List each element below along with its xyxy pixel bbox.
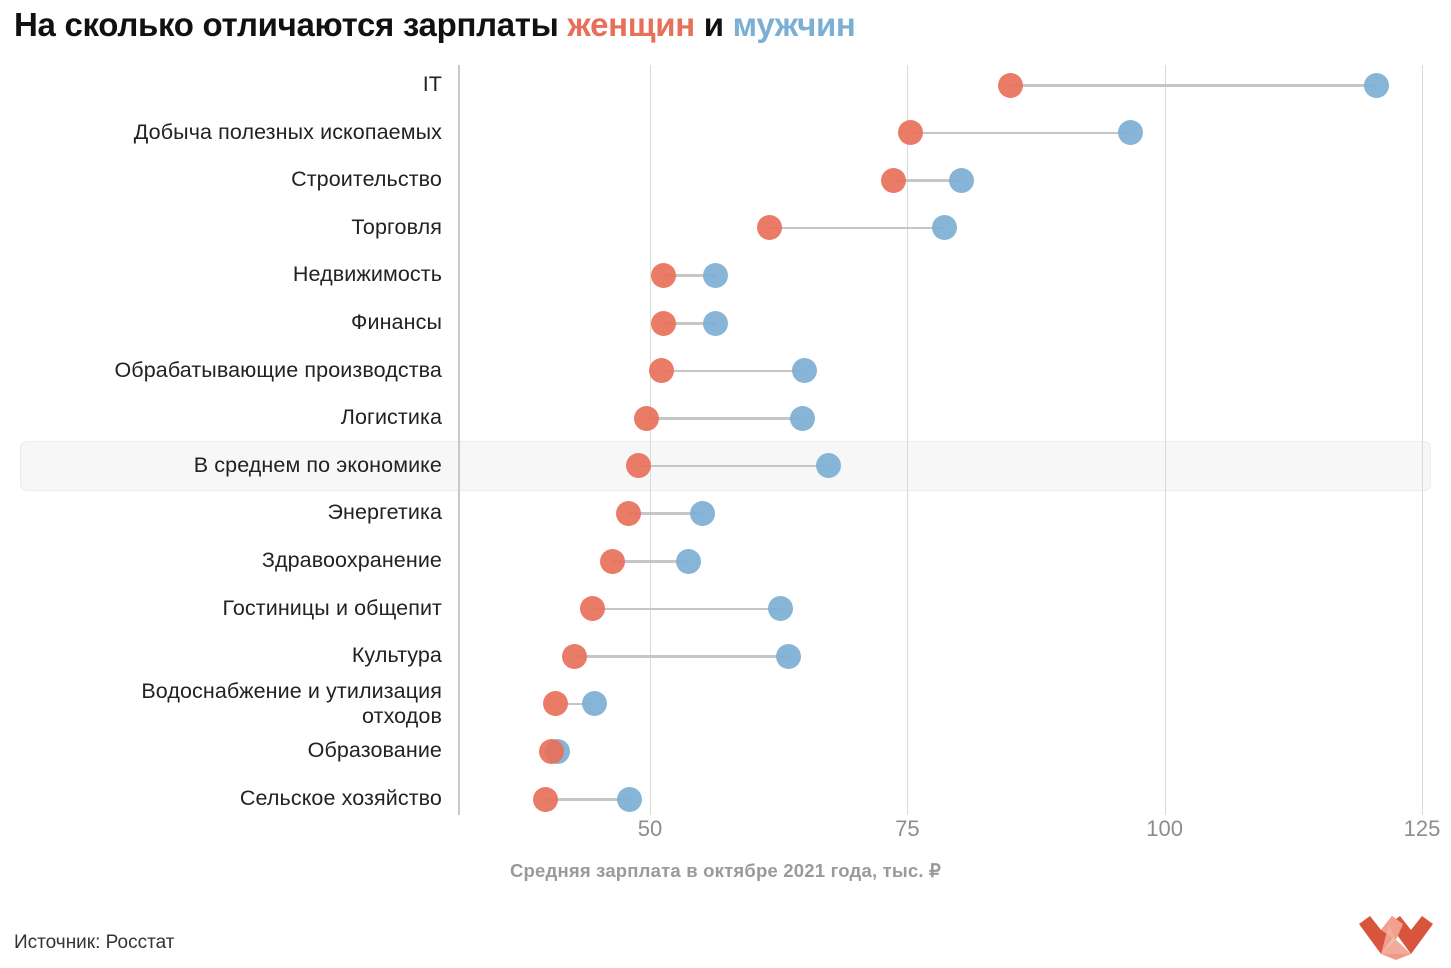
connector-line	[661, 370, 804, 373]
data-point-male[interactable]	[617, 787, 642, 812]
data-point-female[interactable]	[580, 596, 605, 621]
data-point-female[interactable]	[539, 739, 564, 764]
row-label-6: Обрабатывающие производства	[114, 358, 442, 383]
data-point-female[interactable]	[634, 406, 659, 431]
x-tick-100: 100	[1146, 816, 1183, 842]
data-point-male[interactable]	[768, 596, 793, 621]
y-axis-line	[458, 65, 460, 815]
connector-line	[910, 132, 1130, 135]
vedomosti-logo	[1359, 916, 1433, 960]
data-point-male[interactable]	[1364, 73, 1389, 98]
data-point-male[interactable]	[703, 263, 728, 288]
data-point-female[interactable]	[616, 501, 641, 526]
data-point-male[interactable]	[703, 311, 728, 336]
row-label-13: Водоснабжение и утилизация отходов	[141, 679, 442, 729]
row-label-8: В среднем по экономике	[194, 453, 442, 478]
row-label-1: Добыча полезных ископаемых	[134, 120, 442, 145]
data-point-male[interactable]	[949, 168, 974, 193]
dumbbell-chart: ITДобыча полезных ископаемыхСтроительств…	[0, 0, 1451, 830]
x-tick-125: 125	[1404, 816, 1441, 842]
data-point-female[interactable]	[651, 263, 676, 288]
data-point-female[interactable]	[543, 691, 568, 716]
x-tick-50: 50	[638, 816, 662, 842]
connector-line	[647, 417, 802, 420]
row-label-7: Логистика	[341, 405, 442, 430]
gridline-125	[1422, 65, 1423, 815]
data-point-male[interactable]	[816, 453, 841, 478]
row-label-11: Гостиницы и общепит	[223, 596, 442, 621]
row-label-10: Здравоохранение	[262, 548, 442, 573]
row-label-5: Финансы	[351, 310, 442, 335]
data-point-male[interactable]	[676, 549, 701, 574]
data-point-male[interactable]	[776, 644, 801, 669]
data-point-male[interactable]	[1118, 120, 1143, 145]
connector-line	[592, 608, 780, 611]
row-label-14: Образование	[308, 738, 442, 763]
data-point-male[interactable]	[582, 691, 607, 716]
gridline-75	[907, 65, 908, 815]
data-point-female[interactable]	[533, 787, 558, 812]
x-axis-title: Средняя зарплата в октябре 2021 года, ты…	[0, 860, 1451, 882]
data-point-female[interactable]	[562, 644, 587, 669]
row-label-2: Строительство	[291, 167, 442, 192]
gridline-50	[650, 65, 651, 815]
data-point-female[interactable]	[998, 73, 1023, 98]
data-point-female[interactable]	[600, 549, 625, 574]
data-point-male[interactable]	[932, 215, 957, 240]
data-point-female[interactable]	[651, 311, 676, 336]
connector-line	[575, 655, 789, 658]
data-point-female[interactable]	[757, 215, 782, 240]
data-point-male[interactable]	[690, 501, 715, 526]
gridline-100	[1165, 65, 1166, 815]
connector-line	[1010, 84, 1376, 87]
row-label-9: Энергетика	[327, 500, 442, 525]
connector-line	[769, 227, 944, 230]
row-label-4: Недвижимость	[293, 262, 442, 287]
data-point-female[interactable]	[881, 168, 906, 193]
x-tick-75: 75	[895, 816, 919, 842]
data-point-male[interactable]	[792, 358, 817, 383]
connector-line	[639, 465, 828, 468]
data-point-female[interactable]	[898, 120, 923, 145]
row-label-0: IT	[423, 72, 442, 97]
row-label-15: Сельское хозяйство	[240, 786, 442, 811]
source-note: Источник: Росстат	[14, 932, 174, 954]
row-label-12: Культура	[352, 643, 442, 668]
data-point-female[interactable]	[649, 358, 674, 383]
data-point-male[interactable]	[790, 406, 815, 431]
row-label-3: Торговля	[351, 215, 442, 240]
